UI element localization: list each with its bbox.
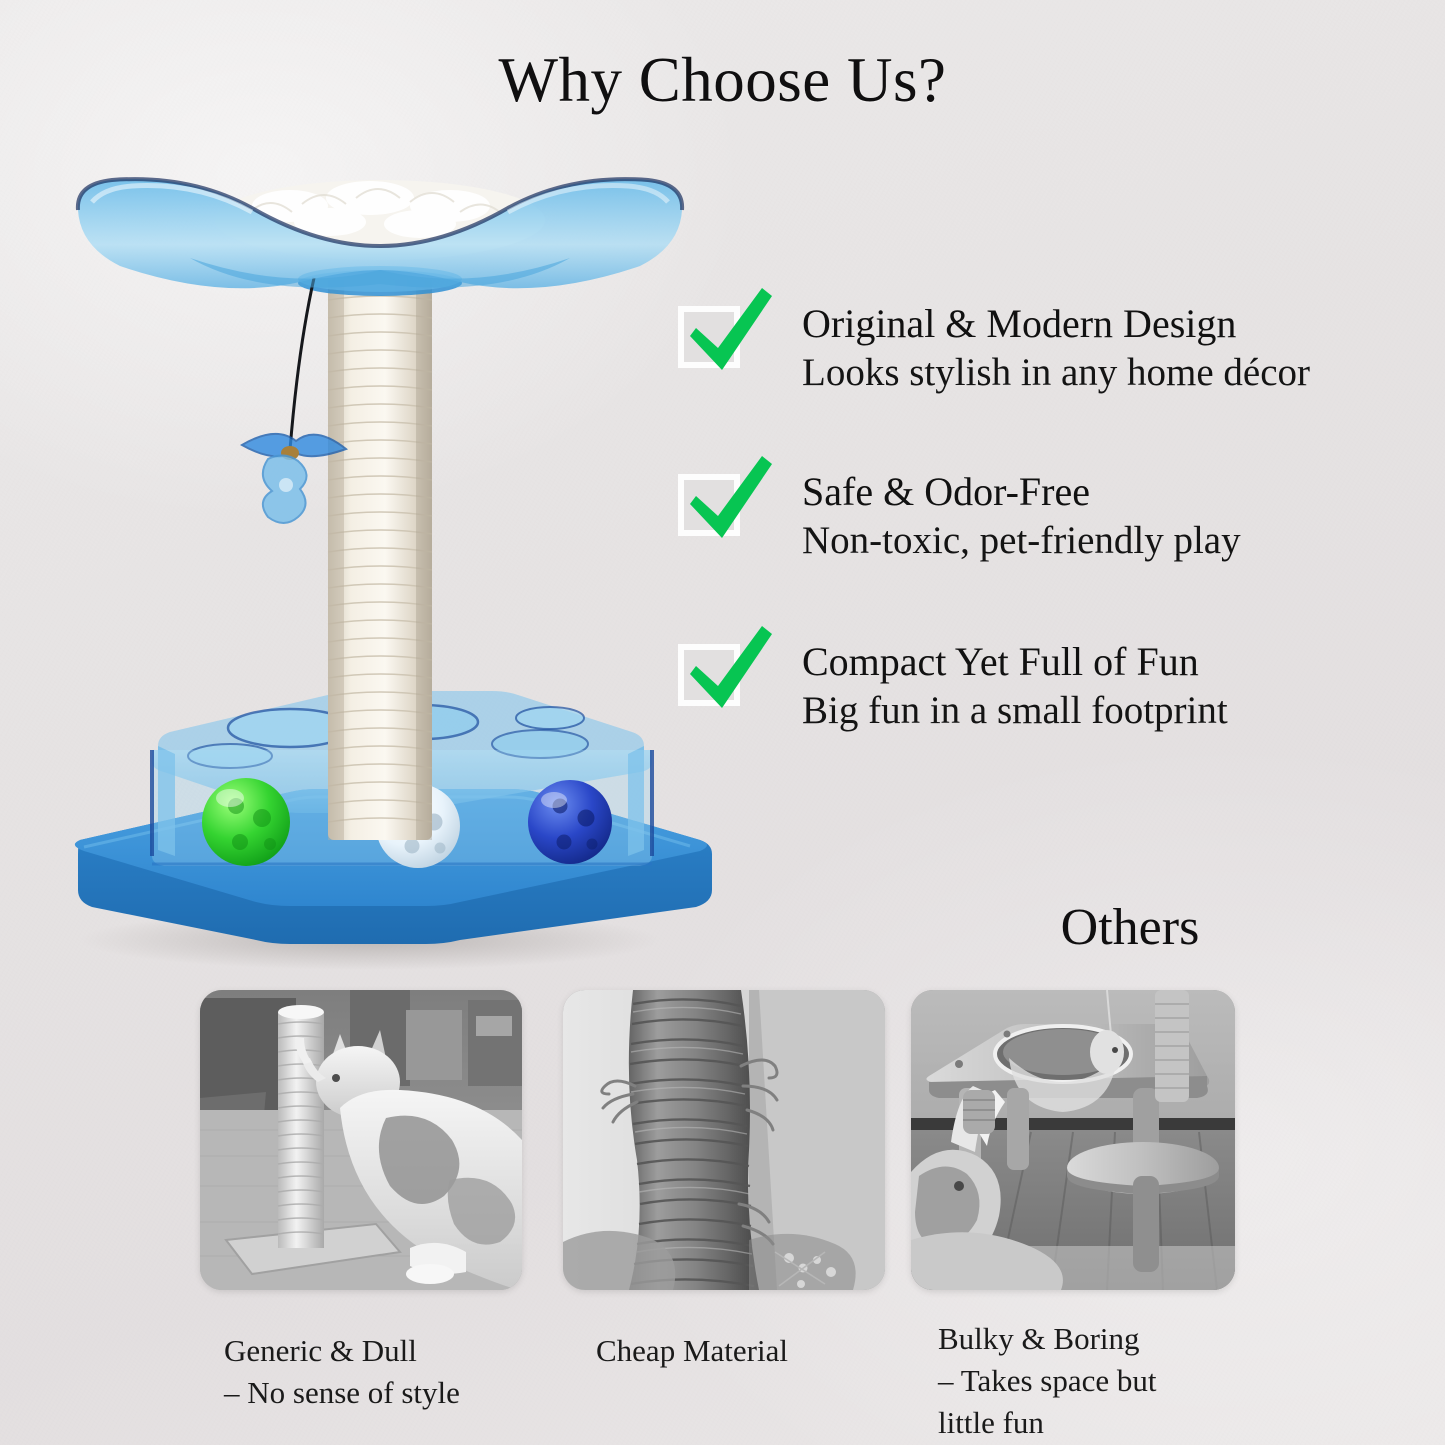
feature-heading: Safe & Odor-Free	[802, 468, 1438, 515]
caption-line2: – No sense of style	[224, 1372, 554, 1414]
others-caption-1: Cheap Material	[596, 1330, 926, 1372]
product-hero-image	[40, 150, 740, 970]
ball-green	[202, 778, 290, 866]
feature-item-1: Safe & Odor-Free Non-toxic, pet-friendly…	[678, 468, 1438, 620]
feature-list: Original & Modern Design Looks stylish i…	[678, 300, 1438, 790]
others-photo-generic-dull	[200, 990, 522, 1290]
product-illustration	[40, 150, 740, 970]
tray-hole	[516, 707, 584, 729]
feature-item-0: Original & Modern Design Looks stylish i…	[678, 300, 1438, 452]
caption-line1: Bulky & Boring	[938, 1318, 1268, 1360]
sisal-rope-post	[328, 280, 432, 840]
feature-subtext: Big fun in a small footprint	[802, 687, 1438, 735]
green-check-icon	[682, 624, 778, 716]
caption-line3: little fun	[938, 1402, 1268, 1444]
feature-subtext: Non-toxic, pet-friendly play	[802, 517, 1438, 565]
green-check-icon	[682, 454, 778, 546]
others-photo-bulky-boring	[911, 990, 1235, 1290]
caption-line1: Cheap Material	[596, 1330, 926, 1372]
feature-heading: Original & Modern Design	[802, 300, 1438, 347]
page-title: Why Choose Us?	[0, 44, 1445, 117]
others-caption-0: Generic & Dull – No sense of style	[224, 1330, 554, 1414]
others-caption-2: Bulky & Boring – Takes space but little …	[938, 1318, 1268, 1444]
caption-line1: Generic & Dull	[224, 1330, 554, 1372]
feature-heading: Compact Yet Full of Fun	[802, 638, 1438, 685]
green-check-icon	[682, 286, 778, 378]
feature-subtext: Looks stylish in any home décor	[802, 349, 1438, 397]
why-choose-us-infographic: Why Choose Us?	[0, 0, 1445, 1445]
others-photo-cheap-material	[563, 990, 885, 1290]
caption-line2: – Takes space but	[938, 1360, 1268, 1402]
top-perch	[78, 179, 682, 288]
others-section-title: Others	[940, 898, 1320, 957]
feature-item-2: Compact Yet Full of Fun Big fun in a sma…	[678, 638, 1438, 790]
ball-blue	[528, 780, 612, 864]
